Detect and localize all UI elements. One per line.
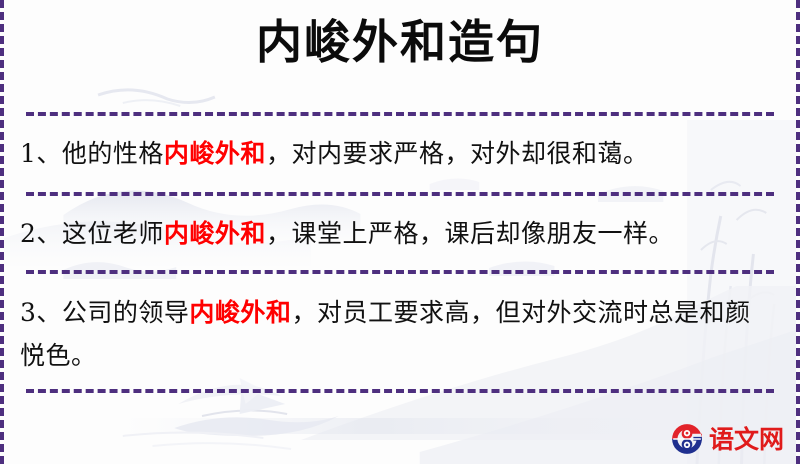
- sentence-text-before-1: 他的性格: [62, 139, 164, 168]
- sentence-number-3: 3、: [20, 298, 62, 327]
- sentence-text-before-2: 这位老师: [62, 219, 164, 248]
- sentence-number-2: 2、: [20, 219, 62, 248]
- highlighted-idiom-3: 内峻外和: [189, 298, 291, 327]
- sentence-number-1: 1、: [20, 139, 62, 168]
- site-logo[interactable]: 语文网: [670, 422, 784, 456]
- sentence-text-after-2: ，课堂上严格，课后却像朋友一样。: [266, 219, 674, 248]
- separator-rule-3: [26, 270, 774, 274]
- highlighted-idiom-2: 内峻外和: [164, 219, 266, 248]
- sentence-item-2: 2、这位老师内峻外和，课堂上严格，课后却像朋友一样。: [20, 212, 770, 255]
- sentence-item-3: 3、公司的领导内峻外和，对员工要求高，但对外交流时总是和颜悦色。: [20, 291, 770, 377]
- sentence-text-after-1: ，对内要求严格，对外却很和蔼。: [266, 139, 649, 168]
- document-content: 内峻外和造句 1、他的性格内峻外和，对内要求严格，对外却很和蔼。 2、这位老师内…: [4, 0, 796, 464]
- separator-rule-2: [26, 192, 774, 196]
- highlighted-idiom-1: 内峻外和: [164, 139, 266, 168]
- page-title: 内峻外和造句: [4, 16, 796, 69]
- site-logo-text: 语文网: [709, 427, 784, 452]
- sentence-text-before-3: 公司的领导: [62, 298, 190, 327]
- document-page: 内峻外和造句 1、他的性格内峻外和，对内要求严格，对外却很和蔼。 2、这位老师内…: [0, 0, 800, 464]
- yuwen-circular-logo-icon: [670, 422, 704, 456]
- separator-rule-4: [26, 389, 774, 393]
- sentence-item-1: 1、他的性格内峻外和，对内要求严格，对外却很和蔼。: [20, 132, 770, 175]
- separator-rule-1: [26, 112, 774, 116]
